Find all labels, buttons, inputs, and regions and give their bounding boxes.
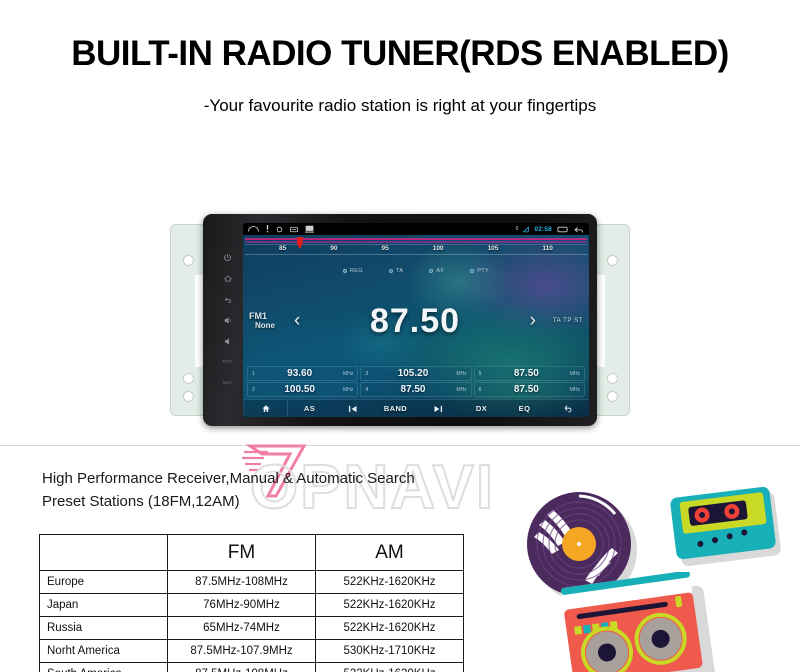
power-icon[interactable]: [223, 251, 232, 264]
table-row: South America 87.5MHz-108MHz 522KHz-1620…: [40, 663, 464, 672]
fm-range-cell: 76MHz-90MHz: [168, 594, 316, 617]
preset-index: 3: [365, 371, 372, 377]
android-status-bar: 0 02:58: [243, 223, 589, 235]
chevron-right-icon[interactable]: ›: [527, 310, 539, 332]
rds-options-row: REG TA AF PTY: [243, 265, 589, 275]
scale-tick: 100: [433, 245, 444, 252]
bracket-hole: [607, 391, 618, 402]
preset-unit: MHz: [567, 387, 580, 393]
fm-range-cell: 87.5MHz-108MHz: [168, 663, 316, 672]
table-header-fm: FM: [168, 535, 316, 571]
frequency-band-scale[interactable]: 85 90 95 100 105 110: [243, 235, 589, 265]
home-icon[interactable]: [223, 272, 233, 285]
cassette-tape-illustration: [668, 483, 784, 567]
preset-unit: MHz: [454, 387, 467, 393]
am-range-cell: 530KHz-1710KHz: [316, 640, 464, 663]
back-icon[interactable]: [573, 226, 584, 233]
return-icon[interactable]: [546, 400, 589, 417]
menu-icon[interactable]: [266, 225, 269, 233]
preset-button[interactable]: 5 87.50 MHz: [474, 366, 585, 381]
feature-line-2: Preset Stations (18FM,12AM): [42, 490, 415, 513]
preset-index: 2: [252, 387, 259, 393]
hardware-key-column: RST MIC: [212, 223, 243, 417]
am-range-cell: 522KHz-1620KHz: [316, 594, 464, 617]
table-row: Europe 87.5MHz-108MHz 522KHz-1620KHz: [40, 571, 464, 594]
preset-value: 100.50: [259, 384, 340, 395]
region-cell: Europe: [40, 571, 168, 594]
scale-ticks: 85 90 95 100 105 110: [243, 244, 589, 252]
preset-value: 87.50: [486, 368, 567, 379]
feature-text: High Performance Receiver,Manual & Autom…: [42, 467, 415, 514]
volume-down-icon[interactable]: [223, 335, 233, 348]
table-header-am: AM: [316, 535, 464, 571]
preset-value: 93.60: [259, 368, 340, 379]
current-frequency: 87.50: [303, 304, 526, 338]
scale-tick: 90: [330, 245, 337, 252]
touch-screen[interactable]: 0 02:58: [243, 223, 589, 417]
region-cell: South America: [40, 663, 168, 672]
fm-range-cell: 65MHz-74MHz: [168, 617, 316, 640]
page-title: BUILT-IN RADIO TUNER(RDS ENABLED): [0, 34, 800, 74]
radio-dot-icon: [343, 269, 347, 273]
feature-line-1: High Performance Receiver,Manual & Autom…: [42, 467, 415, 490]
region-cell: Russia: [40, 617, 168, 640]
scale-rule: [245, 254, 587, 255]
reset-button[interactable]: RST: [223, 356, 233, 369]
home-icon[interactable]: [243, 400, 288, 417]
boombox-illustration: [560, 572, 720, 672]
bracket-hole: [183, 373, 194, 384]
band-button[interactable]: BAND: [374, 400, 417, 417]
radio-dot-icon: [470, 269, 474, 273]
car-stereo-device: RST MIC: [0, 212, 800, 428]
am-range-cell: 522KHz-1620KHz: [316, 571, 464, 594]
rds-option-reg[interactable]: REG: [343, 266, 363, 275]
preset-unit: MHz: [340, 371, 353, 377]
scale-tick: 85: [279, 245, 286, 252]
frequency-range-table: FM AM Europe 87.5MHz-108MHz 522KHz-1620K…: [39, 534, 464, 672]
circle-icon[interactable]: [276, 226, 283, 233]
preset-button[interactable]: 4 87.50 MHz: [360, 382, 471, 397]
preset-button[interactable]: 2 100.50 MHz: [247, 382, 358, 397]
as-button[interactable]: AS: [288, 400, 331, 417]
preset-index: 6: [479, 387, 486, 393]
status-clock: 02:58: [534, 226, 552, 233]
preset-value: 87.50: [486, 384, 567, 395]
band-indicator[interactable]: FM1 None: [249, 311, 291, 331]
tuner-display: FM1 None ‹ 87.50 › TA TP ST: [243, 275, 589, 366]
preset-grid: 1 93.60 MHz 3 105.20 MHz 5 87.50 MHz: [243, 366, 589, 399]
preset-index: 5: [479, 371, 486, 377]
head-unit-body: RST MIC: [203, 214, 597, 426]
signal-icon: [523, 226, 529, 233]
signal-flags: TA TP ST: [539, 318, 583, 324]
table-row: Norht America 87.5MHz-107.9MHz 530KHz-17…: [40, 640, 464, 663]
recents-icon[interactable]: [557, 226, 568, 233]
rds-option-af[interactable]: AF: [429, 266, 444, 275]
bracket-hole: [607, 255, 618, 266]
bracket-hole: [607, 373, 618, 384]
preset-button[interactable]: 1 93.60 MHz: [247, 366, 358, 381]
battery-count: 0: [516, 226, 519, 232]
microphone-label: MIC: [223, 377, 232, 390]
preset-index: 1: [252, 371, 259, 377]
preset-button[interactable]: 6 87.50 MHz: [474, 382, 585, 397]
preset-unit: MHz: [454, 371, 467, 377]
rds-label: AF: [436, 268, 444, 274]
next-icon[interactable]: [417, 400, 460, 417]
page-subtitle: -Your favourite radio station is right a…: [0, 96, 800, 116]
volume-up-icon[interactable]: [223, 314, 233, 327]
scale-tick: 105: [488, 245, 499, 252]
preset-index: 4: [365, 387, 372, 393]
screen-toolbar: AS BAND DX EQ: [243, 399, 589, 417]
radio-dot-icon: [389, 269, 393, 273]
region-cell: Norht America: [40, 640, 168, 663]
eq-button[interactable]: EQ: [503, 400, 546, 417]
bracket-hole: [183, 255, 194, 266]
fm-range-cell: 87.5MHz-107.9MHz: [168, 640, 316, 663]
rds-label: REG: [350, 268, 363, 274]
radio-dot-icon: [429, 269, 433, 273]
am-range-cell: 522KHz-1620KHz: [316, 617, 464, 640]
home-icon[interactable]: [248, 226, 259, 232]
back-icon[interactable]: [223, 293, 233, 306]
bracket-hole: [183, 391, 194, 402]
rds-label: TA: [396, 268, 403, 274]
previous-icon[interactable]: [331, 400, 374, 417]
am-range-cell: 522KHz-1620KHz: [316, 663, 464, 672]
sd-card-icon[interactable]: [290, 226, 298, 233]
preset-unit: MHz: [567, 371, 580, 377]
rds-option-pty[interactable]: PTY: [470, 266, 489, 275]
dx-button[interactable]: DX: [460, 400, 503, 417]
preset-button[interactable]: 3 105.20 MHz: [360, 366, 471, 381]
preset-value: 87.50: [372, 384, 453, 395]
scale-tick: 95: [381, 245, 388, 252]
station-name: None: [249, 321, 291, 330]
table-header-blank: [40, 535, 168, 571]
table-row: Japan 76MHz-90MHz 522KHz-1620KHz: [40, 594, 464, 617]
scale-bars: [243, 237, 589, 244]
scale-tick: 110: [542, 245, 553, 252]
region-cell: Japan: [40, 594, 168, 617]
rds-label: PTY: [477, 268, 489, 274]
table-header-row: FM AM: [40, 535, 464, 571]
rds-option-ta[interactable]: TA: [389, 266, 403, 275]
band-name: FM1: [249, 311, 291, 321]
table-row: Russia 65MHz-74MHz 522KHz-1620KHz: [40, 617, 464, 640]
fm-range-cell: 87.5MHz-108MHz: [168, 571, 316, 594]
section-divider: [0, 445, 800, 446]
preset-value: 105.20: [372, 368, 453, 379]
screen-icon[interactable]: [305, 225, 314, 233]
chevron-left-icon[interactable]: ‹: [291, 310, 303, 332]
preset-unit: MHz: [340, 387, 353, 393]
